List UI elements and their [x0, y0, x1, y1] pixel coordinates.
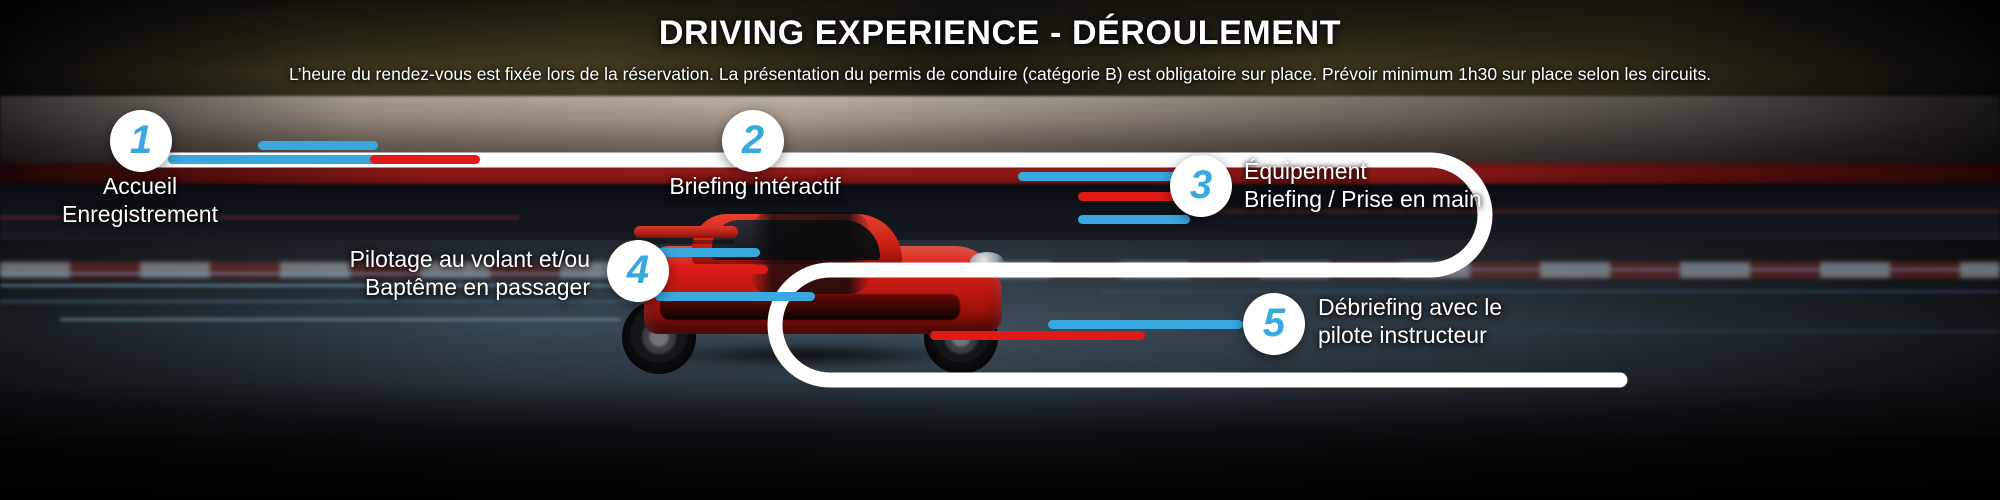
car-stripe: [750, 212, 870, 294]
step-number-1: 1: [130, 120, 152, 160]
page-title: DRIVING EXPERIENCE - DÉROULEMENT: [0, 14, 2000, 53]
step-number-4: 4: [627, 250, 649, 290]
step-marker-4[interactable]: 4: [607, 240, 669, 302]
accent-bar-blue: [1078, 215, 1190, 224]
banner-header: DRIVING EXPERIENCE - DÉROULEMENT L’heure…: [0, 0, 2000, 85]
step-marker-3[interactable]: 3: [1170, 155, 1232, 217]
accent-bar-blue: [168, 155, 383, 164]
step-marker-5[interactable]: 5: [1243, 293, 1305, 355]
accent-bar-blue: [655, 292, 815, 301]
car-headlight: [970, 252, 1004, 272]
page-subtitle: L’heure du rendez-vous est fixée lors de…: [0, 64, 2000, 85]
step-number-5: 5: [1263, 303, 1285, 343]
accent-bar-red: [930, 331, 1145, 340]
step-label-1: Accueil Enregistrement: [10, 172, 270, 228]
step-label-4: Pilotage au volant et/ou Baptême en pass…: [240, 245, 590, 301]
accent-bar-blue: [258, 141, 378, 150]
car-rear-wing: [634, 226, 738, 238]
step-number-2: 2: [742, 120, 764, 160]
step-number-3: 3: [1190, 165, 1212, 205]
step-label-2: Briefing intéractif: [585, 172, 925, 200]
accent-bar-red: [668, 265, 768, 274]
accent-bar-red: [370, 155, 480, 164]
step-label-5: Débriefing avec le pilote instructeur: [1318, 293, 1718, 349]
step-marker-2[interactable]: 2: [722, 110, 784, 172]
infographic-banner: DRIVING EXPERIENCE - DÉROULEMENT L’heure…: [0, 0, 2000, 500]
accent-bar-blue: [1018, 172, 1178, 181]
step-label-3: Équipement Briefing / Prise en main: [1244, 157, 1664, 213]
step-marker-1[interactable]: 1: [110, 110, 172, 172]
accent-bar-blue: [1048, 320, 1243, 329]
